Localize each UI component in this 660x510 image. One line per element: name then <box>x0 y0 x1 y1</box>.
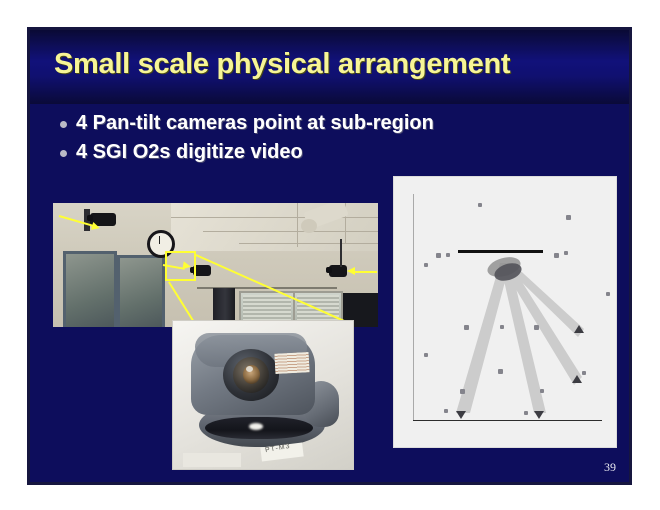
diagram-speck <box>524 411 528 415</box>
diagram-speck <box>498 369 503 374</box>
ceiling-tile-line <box>239 243 378 244</box>
diagram-speck <box>478 203 482 207</box>
plan-view-diagram <box>393 176 617 448</box>
camera-right <box>329 265 347 277</box>
bullet-list: 4 Pan-tilt cameras point at sub-region 4… <box>54 112 614 170</box>
diagram-camera-marker-4 <box>574 325 584 333</box>
annotation-arrow-right <box>353 271 377 273</box>
projector-lens <box>301 219 317 233</box>
door-glass <box>66 254 114 327</box>
callout-highlight-box <box>165 251 196 281</box>
diagram-speck <box>460 389 465 394</box>
room-photograph <box>53 203 378 327</box>
page-title: Small scale physical arrangement <box>54 48 510 81</box>
list-item: 4 Pan-tilt cameras point at sub-region <box>54 112 614 141</box>
diagram-speck <box>566 215 571 220</box>
list-item: 4 SGI O2s digitize video <box>54 141 614 170</box>
diagram-speck <box>540 389 544 393</box>
diagram-speck <box>444 409 448 413</box>
diagram-speck <box>534 325 539 330</box>
title-band: Small scale physical arrangement <box>30 30 629 104</box>
ceiling-tile-line <box>203 231 378 232</box>
camera-closeup-photograph: PT-M3 <box>172 320 354 470</box>
door-glass <box>120 258 162 327</box>
list-item-label: 4 Pan-tilt cameras point at sub-region <box>76 112 434 135</box>
diagram-speck <box>582 371 586 375</box>
diagram-camera-marker-2 <box>534 411 544 419</box>
ceiling-tile-line <box>171 217 378 218</box>
diagram-camera-marker-1 <box>456 411 466 419</box>
diagram-camera-marker-3 <box>572 375 582 383</box>
photo-white-strip <box>183 453 241 467</box>
diagram-speck <box>424 263 428 267</box>
diagram-speck <box>500 325 504 329</box>
bullet-dot-icon <box>60 121 67 128</box>
slide-frame: Small scale physical arrangement 4 Pan-t… <box>27 27 632 485</box>
ceiling-tile-line <box>297 203 298 247</box>
camera-base-indicator <box>249 423 263 430</box>
camera-mount-right <box>340 239 342 267</box>
diagram-speck <box>564 251 568 255</box>
camera-lens-glint <box>246 366 253 372</box>
diagram-speck <box>424 353 428 357</box>
door-left <box>63 251 117 327</box>
slide-body: Small scale physical arrangement 4 Pan-t… <box>30 30 629 482</box>
diagram-speck <box>554 253 559 258</box>
diagram-fov-wedges <box>394 177 616 447</box>
annotation-arrowhead-right <box>347 267 355 275</box>
diagram-speck <box>606 292 610 296</box>
diagram-speck <box>436 253 441 258</box>
page-number: 39 <box>604 460 616 475</box>
bullet-dot-icon <box>60 150 67 157</box>
list-item-label: 4 SGI O2s digitize video <box>76 141 303 164</box>
diagram-speck <box>446 253 450 257</box>
camera-spec-sticker <box>274 352 309 374</box>
door-right <box>117 255 165 327</box>
diagram-speck <box>464 325 469 330</box>
